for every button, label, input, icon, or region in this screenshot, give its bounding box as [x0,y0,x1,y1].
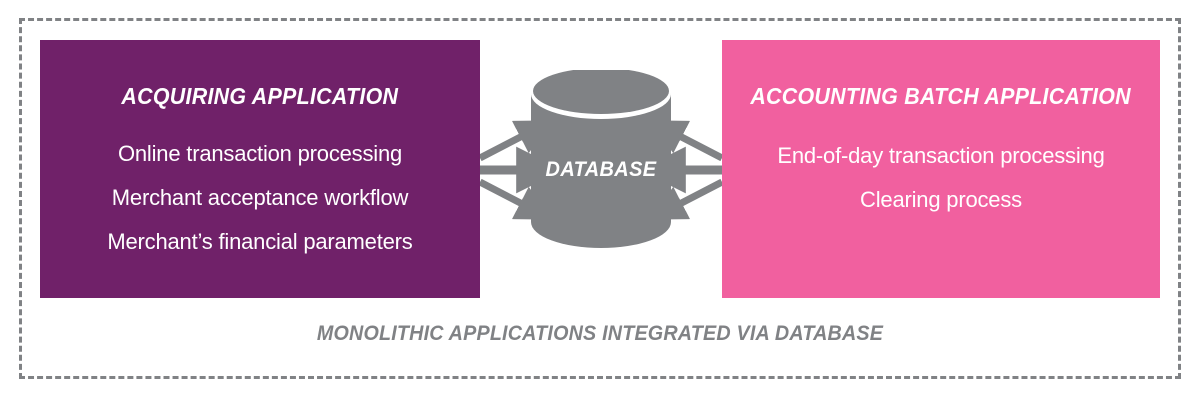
list-item: End-of-day transaction processing [777,134,1104,178]
accounting-batch-application-feature-list: End-of-day transaction processing Cleari… [722,134,1160,222]
acquiring-application-feature-list: Online transaction processing Merchant a… [40,132,480,264]
list-item: Merchant acceptance workflow [112,176,408,220]
list-item: Merchant’s financial parameters [107,220,412,264]
list-item: Online transaction processing [118,132,402,176]
database-node[interactable]: DATABASE [480,70,722,270]
list-item: Clearing process [860,178,1022,222]
acquiring-application-panel[interactable]: ACQUIRING APPLICATION Online transaction… [40,40,480,298]
acquiring-application-title: ACQUIRING APPLICATION [122,83,399,110]
diagram-canvas: ACQUIRING APPLICATION Online transaction… [0,0,1200,400]
cylinder-icon [531,70,671,248]
accounting-batch-application-panel[interactable]: ACCOUNTING BATCH APPLICATION End-of-day … [722,40,1160,298]
left-connector-arrows [480,130,536,210]
accounting-batch-application-title: ACCOUNTING BATCH APPLICATION [751,83,1132,110]
diagram-caption: MONOLITHIC APPLICATIONS INTEGRATED VIA D… [36,322,1164,346]
right-connector-arrows [666,130,722,210]
